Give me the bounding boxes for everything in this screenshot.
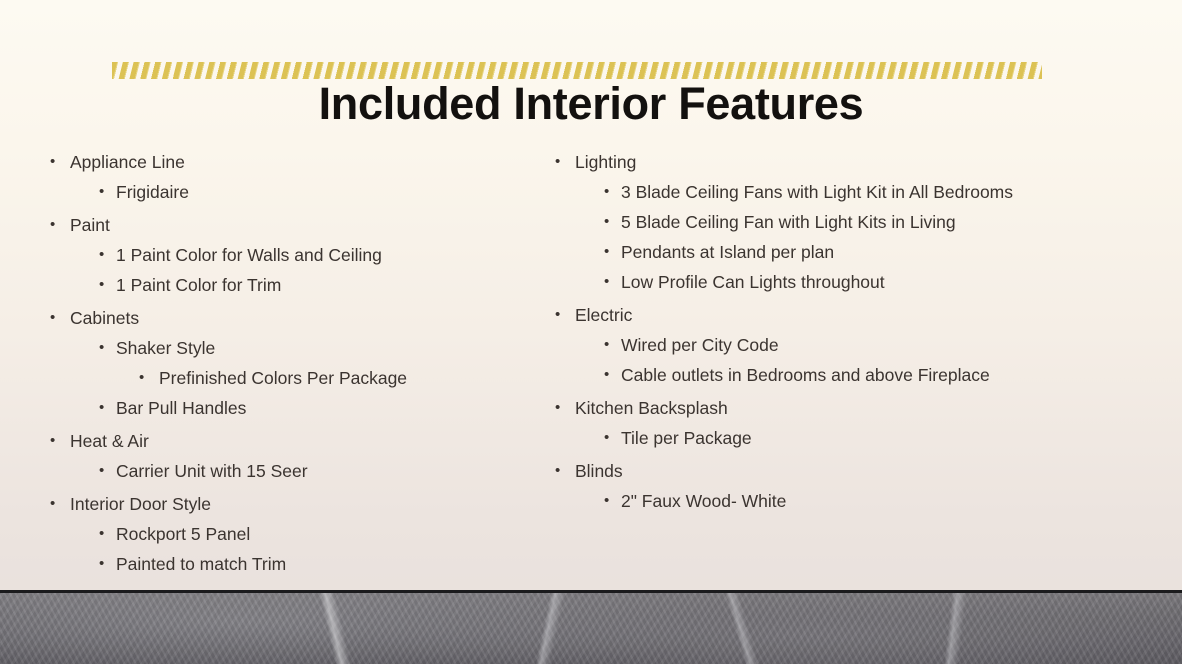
list-item-label: Kitchen Backsplash [575,398,728,418]
list-item: •Bar Pull Handles [44,398,514,428]
list-item: •Pendants at Island per plan [549,242,1109,272]
list-item: •Kitchen Backsplash [549,398,1109,428]
list-item-label: Frigidaire [116,182,189,202]
list-item-label: Pendants at Island per plan [621,242,834,262]
list-item-label: Paint [70,215,110,235]
features-column-right: •Lighting•3 Blade Ceiling Fans with Ligh… [549,152,1109,521]
list-item: •1 Paint Color for Trim [44,275,514,305]
bullet-dot-icon: • [99,554,116,574]
bullet-dot-icon: • [604,272,621,292]
list-item: •2" Faux Wood- White [549,491,1109,521]
list-item-label: Shaker Style [116,338,215,358]
list-item-label: Blinds [575,461,623,481]
bullet-dot-icon: • [50,152,70,172]
list-item: •Cable outlets in Bedrooms and above Fir… [549,365,1109,395]
bullet-dot-icon: • [604,335,621,355]
slide-canvas: Included Interior Features •Appliance Li… [0,0,1182,664]
list-item: •Shaker Style [44,338,514,368]
list-item-label: 1 Paint Color for Walls and Ceiling [116,245,382,265]
list-item-label: Appliance Line [70,152,185,172]
list-item-label: Tile per Package [621,428,752,448]
list-item-label: 3 Blade Ceiling Fans with Light Kit in A… [621,182,1013,202]
bullet-dot-icon: • [555,152,575,172]
bullet-dot-icon: • [604,491,621,511]
bullet-dot-icon: • [99,338,116,358]
list-item-label: Electric [575,305,632,325]
list-item-label: 2" Faux Wood- White [621,491,786,511]
bullet-dot-icon: • [50,308,70,328]
list-item: •Low Profile Can Lights throughout [549,272,1109,302]
bullet-dot-icon: • [555,398,575,418]
list-item: •Heat & Air [44,431,514,461]
bullet-dot-icon: • [604,428,621,448]
bullet-dot-icon: • [555,305,575,325]
bullet-dot-icon: • [604,242,621,262]
bullet-dot-icon: • [139,368,159,388]
bullet-dot-icon: • [50,215,70,235]
list-item: •Blinds [549,461,1109,491]
list-item-label: 1 Paint Color for Trim [116,275,281,295]
list-item: •3 Blade Ceiling Fans with Light Kit in … [549,182,1109,212]
list-item: •Wired per City Code [549,335,1109,365]
bullet-dot-icon: • [99,398,116,418]
list-item-label: Carrier Unit with 15 Seer [116,461,308,481]
bottom-stone-photo-band [0,590,1182,664]
list-item: •5 Blade Ceiling Fan with Light Kits in … [549,212,1109,242]
list-item: •Frigidaire [44,182,514,212]
list-item-label: Cabinets [70,308,139,328]
list-item-label: Painted to match Trim [116,554,286,574]
list-item: •Tile per Package [549,428,1109,458]
bullet-dot-icon: • [99,524,116,544]
bullet-dot-icon: • [604,182,621,202]
page-title: Included Interior Features [0,80,1182,127]
bullet-dot-icon: • [99,245,116,265]
list-item-label: Cable outlets in Bedrooms and above Fire… [621,365,990,385]
bullet-dot-icon: • [99,275,116,295]
list-item: •Interior Door Style [44,494,514,524]
list-item: •Appliance Line [44,152,514,182]
list-item: •Cabinets [44,308,514,338]
list-item-label: Interior Door Style [70,494,211,514]
bullet-dot-icon: • [604,212,621,232]
list-item-label: Low Profile Can Lights throughout [621,272,885,292]
bullet-dot-icon: • [50,431,70,451]
list-item-label: Prefinished Colors Per Package [159,368,407,388]
bullet-dot-icon: • [99,461,116,481]
list-item: •Prefinished Colors Per Package [44,368,514,398]
list-item: •Paint [44,215,514,245]
list-item-label: Heat & Air [70,431,149,451]
list-item: •1 Paint Color for Walls and Ceiling [44,245,514,275]
list-item: •Carrier Unit with 15 Seer [44,461,514,491]
list-item: •Rockport 5 Panel [44,524,514,554]
list-item-label: Bar Pull Handles [116,398,246,418]
bullet-dot-icon: • [555,461,575,481]
bullet-dot-icon: • [604,365,621,385]
list-item-label: 5 Blade Ceiling Fan with Light Kits in L… [621,212,956,232]
list-item-label: Rockport 5 Panel [116,524,250,544]
decorative-stripe-divider [112,62,1042,79]
bullet-dot-icon: • [50,494,70,514]
bullet-dot-icon: • [99,182,116,202]
list-item: •Electric [549,305,1109,335]
list-item: •Painted to match Trim [44,554,514,584]
features-column-left: •Appliance Line•Frigidaire•Paint•1 Paint… [44,152,514,584]
list-item-label: Lighting [575,152,636,172]
list-item-label: Wired per City Code [621,335,779,355]
list-item: •Lighting [549,152,1109,182]
